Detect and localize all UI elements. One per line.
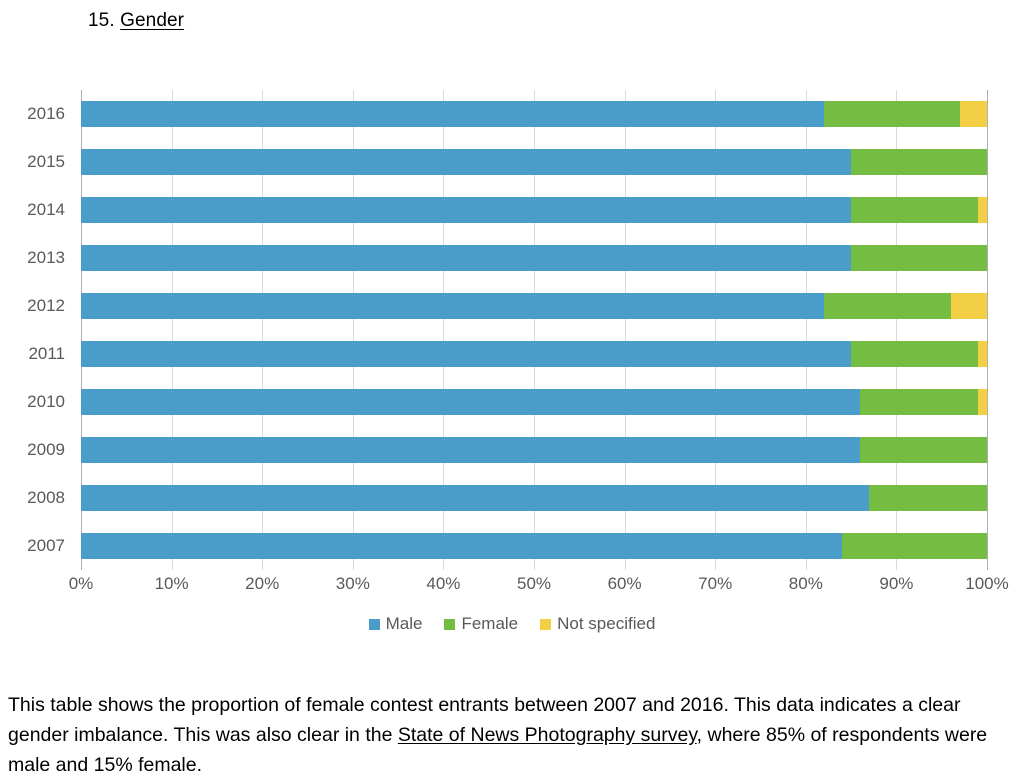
bar-segment-male-2016: [81, 101, 824, 127]
bar-row: [81, 149, 987, 175]
bar-segment-female-2011: [851, 341, 978, 367]
bar-segment-female-2009: [860, 437, 987, 463]
bar-row: [81, 101, 987, 127]
legend-item-female[interactable]: Female: [444, 614, 518, 634]
caption-text: This table shows the proportion of femal…: [8, 690, 1013, 780]
x-axis-label-90: 90%: [879, 574, 913, 594]
x-axis-label-100: 100%: [965, 574, 1008, 594]
x-axis-label-20: 20%: [245, 574, 279, 594]
x-axis-label-60: 60%: [608, 574, 642, 594]
x-axis-label-80: 80%: [789, 574, 823, 594]
legend-label: Male: [386, 614, 423, 634]
y-axis-label-2013: 2013: [0, 248, 65, 268]
bar-segment-female-2007: [842, 533, 987, 559]
bar-segment-not-specified-2014: [978, 197, 987, 223]
bar-segment-female-2012: [824, 293, 951, 319]
y-axis-label-2008: 2008: [0, 488, 65, 508]
bar-segment-female-2010: [860, 389, 978, 415]
legend-label: Female: [461, 614, 518, 634]
legend-item-not-specified[interactable]: Not specified: [540, 614, 655, 634]
y-axis-label-2010: 2010: [0, 392, 65, 412]
y-axis-label-2014: 2014: [0, 200, 65, 220]
legend-label: Not specified: [557, 614, 655, 634]
x-axis-label-70: 70%: [698, 574, 732, 594]
bar-segment-male-2010: [81, 389, 860, 415]
x-axis-label-0: 0%: [69, 574, 94, 594]
bar-segment-female-2013: [851, 245, 987, 271]
page-title: 15. Gender: [88, 10, 184, 32]
bar-segment-not-specified-2016: [960, 101, 987, 127]
bar-segment-female-2014: [851, 197, 978, 223]
x-axis-labels: 0%10%20%30%40%50%60%70%80%90%100%: [81, 574, 987, 602]
gender-stacked-bar-chart: 2016201520142013201220112010200920082007…: [0, 62, 1024, 662]
bar-segment-female-2016: [824, 101, 960, 127]
caption-link[interactable]: State of News Photography survey: [398, 724, 697, 746]
bar-row: [81, 389, 987, 415]
bar-row: [81, 245, 987, 271]
x-axis-label-30: 30%: [336, 574, 370, 594]
bar-row: [81, 485, 987, 511]
bar-segment-female-2015: [851, 149, 987, 175]
page-title-number: 15.: [88, 10, 115, 31]
page: 15. Gender 20162015201420132012201120102…: [0, 0, 1024, 780]
bar-segment-male-2013: [81, 245, 851, 271]
x-axis-label-50: 50%: [517, 574, 551, 594]
bar-segment-male-2007: [81, 533, 842, 559]
bar-segment-male-2011: [81, 341, 851, 367]
legend-swatch-icon: [540, 619, 551, 630]
bar-series-group: [81, 90, 987, 570]
y-axis-label-2011: 2011: [0, 344, 65, 364]
bar-row: [81, 293, 987, 319]
gridline-100: [987, 90, 988, 570]
chart-legend: MaleFemaleNot specified: [0, 614, 1024, 634]
x-axis-label-40: 40%: [426, 574, 460, 594]
y-axis-label-2015: 2015: [0, 152, 65, 172]
bar-segment-female-2008: [869, 485, 987, 511]
legend-swatch-icon: [369, 619, 380, 630]
bar-segment-male-2009: [81, 437, 860, 463]
y-axis-label-2007: 2007: [0, 536, 65, 556]
legend-item-male[interactable]: Male: [369, 614, 423, 634]
bar-row: [81, 533, 987, 559]
bar-segment-not-specified-2012: [951, 293, 987, 319]
bar-segment-male-2008: [81, 485, 869, 511]
bar-segment-not-specified-2011: [978, 341, 987, 367]
plot-area: [81, 90, 987, 570]
bar-segment-male-2012: [81, 293, 824, 319]
y-axis-label-2009: 2009: [0, 440, 65, 460]
y-axis-labels: 2016201520142013201220112010200920082007: [0, 90, 75, 570]
bar-row: [81, 197, 987, 223]
bar-segment-male-2015: [81, 149, 851, 175]
y-axis-label-2012: 2012: [0, 296, 65, 316]
y-axis-label-2016: 2016: [0, 104, 65, 124]
bar-segment-male-2014: [81, 197, 851, 223]
bar-row: [81, 341, 987, 367]
bar-row: [81, 437, 987, 463]
legend-swatch-icon: [444, 619, 455, 630]
page-title-text: Gender: [120, 10, 184, 31]
x-axis-label-10: 10%: [155, 574, 189, 594]
bar-segment-not-specified-2010: [978, 389, 987, 415]
